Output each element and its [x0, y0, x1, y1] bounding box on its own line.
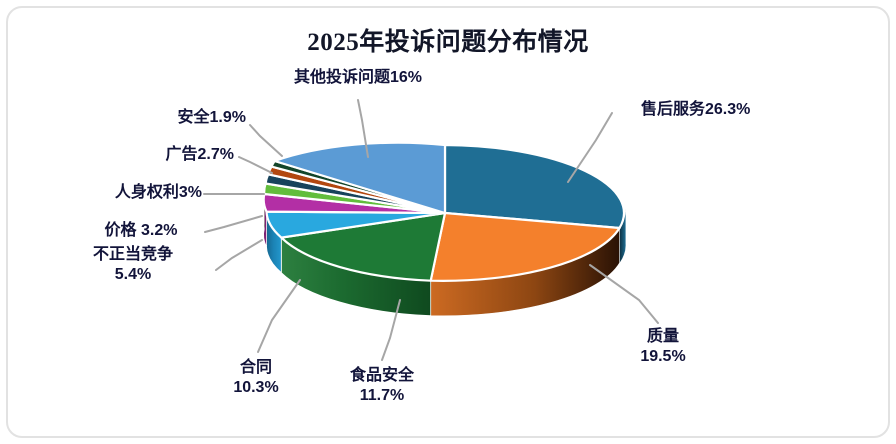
slice-label-houshoufuwu-line1: 售后服务26.3% [641, 101, 750, 118]
slice-label-hetong-line2: 10.3% [204, 378, 308, 398]
slice-label-shipinanquan: 食品安全 11.7% [330, 366, 434, 407]
slice-label-jiage-line1: 价格 3.2% [105, 222, 178, 239]
slice-label-shipinanquan-line1: 食品安全 [350, 367, 414, 384]
slice-label-jiage: 价格 3.2% [78, 221, 204, 241]
slice-label-buzhengdangjingzheng-line2: 5.4% [62, 265, 204, 285]
slice-label-guanggao: 广告2.7% [96, 145, 234, 165]
slice-label-zhiliang-line2: 19.5% [620, 347, 706, 367]
slice-label-hetong: 合同 10.3% [204, 358, 308, 399]
leader-line-houshoufuwu [568, 113, 612, 182]
slice-label-zhiliang: 质量 19.5% [620, 327, 706, 368]
slice-label-houshoufuwu: 售后服务26.3% [641, 100, 750, 120]
slice-label-buzhengdangjingzheng-line1: 不正当竞争 [93, 246, 173, 263]
slice-label-renshenquanli: 人身权利3% [62, 183, 202, 203]
slice-label-qitatousuwenti: 其他投诉问题16% [258, 68, 458, 88]
slice-label-zhiliang-line1: 质量 [647, 328, 679, 345]
leader-line-anquan [250, 125, 282, 156]
pie-top-face [264, 143, 624, 281]
chart-canvas: 2025年投诉问题分布情况 [0, 0, 896, 444]
slice-label-buzhengdangjingzheng: 不正当竞争 5.4% [62, 245, 204, 286]
leader-line-buzhengdangjingzheng [216, 240, 262, 270]
slice-label-qitatousuwenti-line1: 其他投诉问题16% [294, 69, 422, 86]
slice-label-hetong-line1: 合同 [240, 359, 272, 376]
leader-line-hetong [258, 280, 300, 352]
leader-line-guanggao [239, 157, 272, 173]
slice-label-anquan-line1: 安全1.9% [178, 109, 246, 126]
slice-label-renshenquanli-line1: 人身权利3% [115, 184, 202, 201]
slice-label-anquan: 安全1.9% [110, 108, 246, 128]
slice-label-shipinanquan-line2: 11.7% [330, 386, 434, 406]
slice-label-guanggao-line1: 广告2.7% [166, 146, 234, 163]
leader-line-jiage [205, 216, 262, 232]
